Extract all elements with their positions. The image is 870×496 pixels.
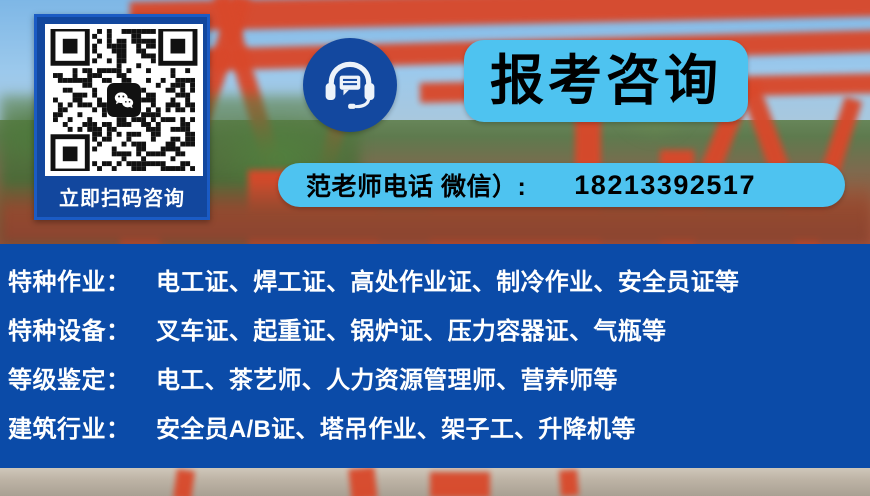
category-row: 建筑行业：安全员A/B证、塔吊作业、架子工、升降机等 [8,409,870,458]
category-label: 特种设备： [8,311,156,346]
category-value: 安全员A/B证、塔吊作业、架子工、升降机等 [156,409,636,444]
categories-panel: 特种作业：电工证、焊工证、高处作业证、制冷作业、安全员证等特种设备：叉车证、起重… [0,244,870,468]
contact-bar[interactable]: 范老师电话 微信）: 18213392517 [278,163,845,207]
promotional-poster: 立即扫码咨询 报考咨询 范老师电话 微信）: 18213392517 特种作业：… [0,0,870,496]
crane-beam [348,468,377,496]
category-value: 电工、茶艺师、人力资源管理师、营养师等 [156,360,618,395]
contact-label: 范老师电话 微信）: [306,167,526,203]
title-badge: 报考咨询 [464,40,748,122]
crane-beam [559,469,579,496]
qr-code-card[interactable]: 立即扫码咨询 [34,14,210,220]
crane-beam [173,469,195,496]
wechat-icon [107,83,141,117]
crane-beam [430,472,490,496]
category-label: 建筑行业： [8,409,156,444]
category-value: 电工证、焊工证、高处作业证、制冷作业、安全员证等 [156,262,739,297]
qr-code-image [50,29,198,171]
categories-list: 特种作业：电工证、焊工证、高处作业证、制冷作业、安全员证等特种设备：叉车证、起重… [0,244,870,458]
qr-card-caption: 立即扫码咨询 [37,182,207,211]
category-label: 等级鉴定： [8,360,156,395]
category-label: 特种作业： [8,262,156,297]
category-value: 叉车证、起重证、锅炉证、压力容器证、气瓶等 [156,311,666,346]
bottom-photo-strip [0,468,870,496]
page-title: 报考咨询 [490,54,722,108]
category-row: 等级鉴定：电工、茶艺师、人力资源管理师、营养师等 [8,360,870,409]
headset-support-icon [303,38,397,132]
category-row: 特种作业：电工证、焊工证、高处作业证、制冷作业、安全员证等 [8,262,870,311]
category-row: 特种设备：叉车证、起重证、锅炉证、压力容器证、气瓶等 [8,311,870,360]
contact-phone-number[interactable]: 18213392517 [574,170,756,201]
qr-code-frame [45,24,203,176]
